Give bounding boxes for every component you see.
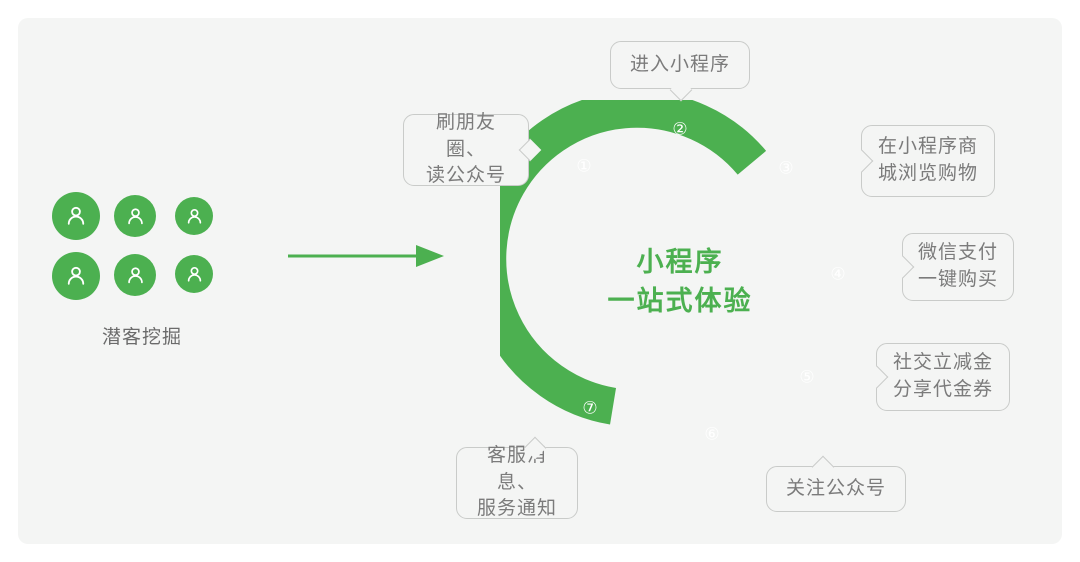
step-number-7: ⑦ (582, 401, 597, 418)
callout-follow-official[interactable]: 关注公众号 (766, 466, 906, 512)
step-number-4: ④ (830, 267, 845, 284)
callout-moments-official[interactable]: 刷朋友圈、 读公众号 (403, 114, 529, 186)
audience-label: 潜客挖掘 (52, 322, 232, 349)
callout-browse-shop[interactable]: 在小程序商 城浏览购物 (861, 125, 995, 197)
person-icon (52, 192, 100, 240)
callout-social-coupon[interactable]: 社交立减金 分享代金券 (876, 343, 1010, 411)
audience-cluster (52, 192, 232, 302)
person-icon (114, 195, 156, 237)
person-icon (114, 254, 156, 296)
person-icon (52, 252, 100, 300)
step-number-6: ⑥ (704, 427, 719, 444)
diagram-canvas: 潜客挖掘 ① ② ③ ④ ⑤ ⑥ ⑦ 小程序 一站式体验 进入小程序 刷朋友圈、… (0, 0, 1080, 562)
person-icon (175, 197, 213, 235)
step-number-2: ② (672, 122, 687, 139)
step-number-1: ① (576, 159, 591, 176)
flow-arrow-icon (282, 238, 452, 274)
person-icon (175, 255, 213, 293)
step-number-5: ⑤ (799, 370, 814, 387)
ring-center-title: 小程序 一站式体验 (570, 243, 790, 321)
step-number-3: ③ (778, 161, 793, 178)
callout-wechat-pay[interactable]: 微信支付 一键购买 (902, 233, 1014, 301)
callout-service-message[interactable]: 客服消息、 服务通知 (456, 447, 578, 519)
